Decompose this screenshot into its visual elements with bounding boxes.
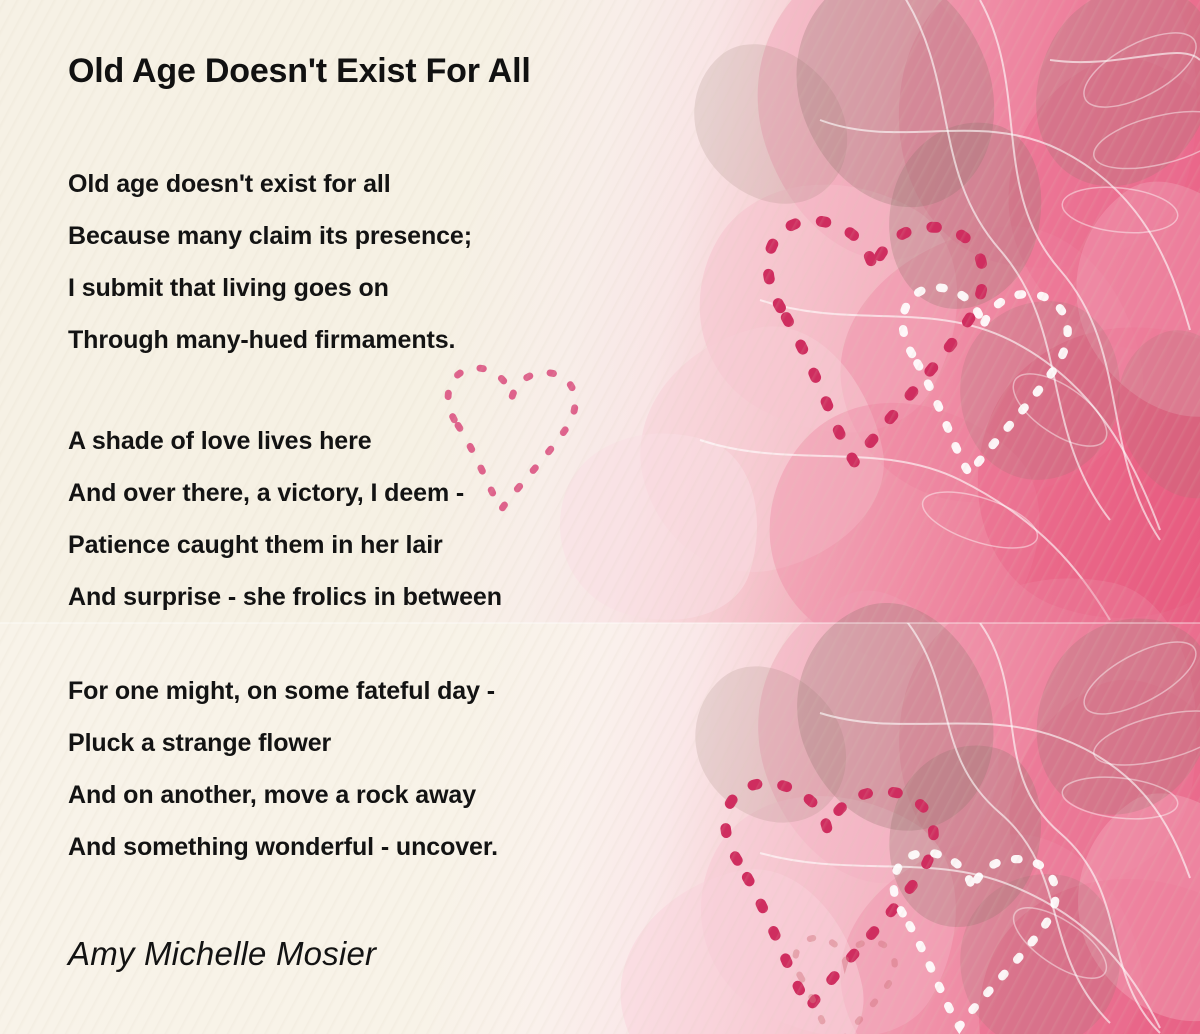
poem-line: For one might, on some fateful day - bbox=[68, 665, 498, 717]
poem-line: Old age doesn't exist for all bbox=[68, 158, 472, 210]
poem-stanza: Old age doesn't exist for all Because ma… bbox=[68, 158, 472, 366]
poem-stanza: For one might, on some fateful day - Plu… bbox=[68, 665, 498, 873]
poem-author-signature: Amy Michelle Mosier bbox=[68, 935, 376, 973]
poem-line: Through many-hued firmaments. bbox=[68, 314, 472, 366]
poem-text-layer: Old Age Doesn't Exist For All Old age do… bbox=[0, 0, 1200, 1034]
poem-line: And on another, move a rock away bbox=[68, 769, 498, 821]
poem-image-card: Old Age Doesn't Exist For All Old age do… bbox=[0, 0, 1200, 1034]
poem-stanza: A shade of love lives here And over ther… bbox=[68, 415, 502, 623]
poem-line: I submit that living goes on bbox=[68, 262, 472, 314]
poem-line: Patience caught them in her lair bbox=[68, 519, 502, 571]
poem-line: A shade of love lives here bbox=[68, 415, 502, 467]
poem-line: Because many claim its presence; bbox=[68, 210, 472, 262]
poem-title: Old Age Doesn't Exist For All bbox=[68, 52, 531, 91]
poem-line: And surprise - she frolics in between bbox=[68, 571, 502, 623]
poem-line: And over there, a victory, I deem - bbox=[68, 467, 502, 519]
poem-line: Pluck a strange flower bbox=[68, 717, 498, 769]
poem-line: And something wonderful - uncover. bbox=[68, 821, 498, 873]
